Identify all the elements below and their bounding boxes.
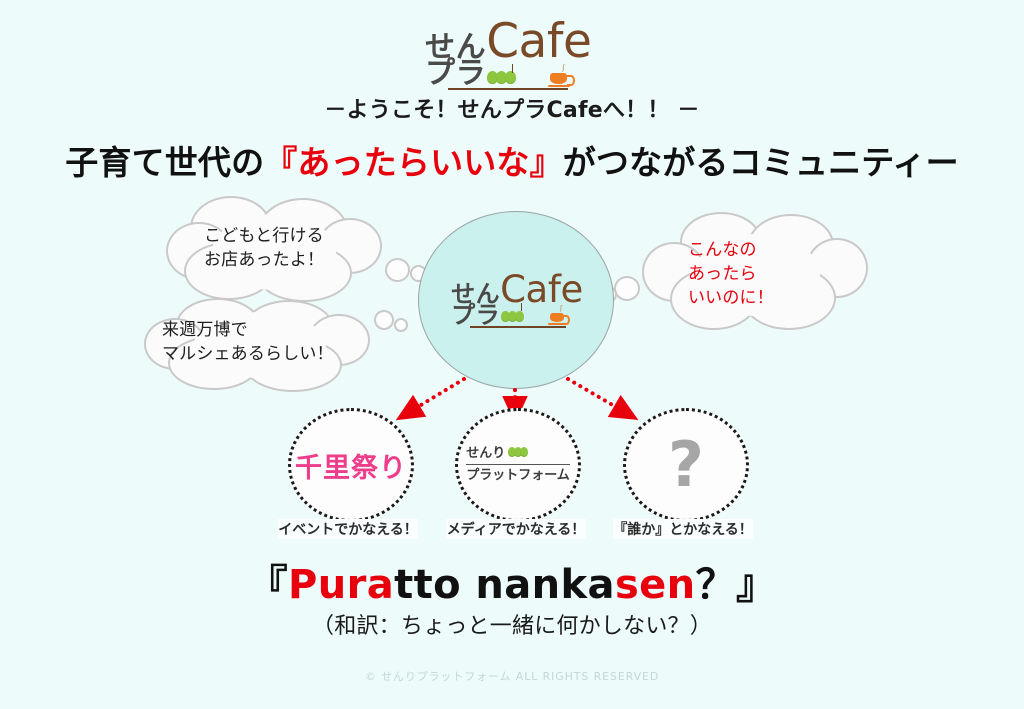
arrow-to-event <box>406 379 464 414</box>
logo-kana-line2: プラ <box>425 59 486 89</box>
tagline-red-2: sen <box>615 562 696 608</box>
platform-logo: せんり プラットフォーム <box>466 445 570 484</box>
arrow-to-someone <box>568 379 628 414</box>
bubble-text: 来週万博で マルシェあるらしい！ <box>162 318 334 366</box>
bubble-text: こんなの あったら いいのに！ <box>688 238 774 310</box>
caption-event: イベントでかなえる！ <box>278 519 418 539</box>
tagline: 『Puratto nankasen？』 <box>0 552 1024 610</box>
center-brand-circle: せん Cafe プラ ʃ <box>418 211 614 389</box>
headline-suffix: がつながるコミュニティー <box>563 143 959 182</box>
coffee-cup-icon: ʃ <box>550 73 570 87</box>
tree-icons <box>501 309 522 325</box>
thought-bubble-expo-marche: 来週万博で マルシェあるらしい！ <box>140 298 380 390</box>
tagline-translation: （和訳：ちょっと一緒に何かしない？） <box>0 608 1024 640</box>
brand-logo-center: せん Cafe プラ ʃ <box>451 271 583 327</box>
node-media[interactable]: せんり プラットフォーム <box>455 408 581 522</box>
coffee-cup-icon: ʃ <box>550 313 566 325</box>
tagline-bracket-close: 』 <box>736 562 776 608</box>
poster-canvas: せん Cafe プラ ʃ －ようこそ！せんプラCafeへ！！ － 子 <box>0 0 1024 709</box>
logo-cafe-text: Cafe <box>486 18 591 65</box>
thought-bubble-kids-shop: こどもと行ける お店あったよ！ <box>160 196 390 304</box>
welcome-line: －ようこそ！せんプラCafeへ！！ － <box>0 92 1024 124</box>
thought-bubble-wish: こんなの あったら いいのに！ <box>636 212 868 332</box>
tagline-black-1: tto nanka <box>394 562 615 608</box>
tagline-bracket-open: 『 <box>248 562 288 608</box>
page-title: 子育て世代の『あったらいいな』がつながるコミュニティー <box>0 136 1024 184</box>
tagline-question: ？ <box>696 562 736 608</box>
caption-someone: 『誰か』とかなえる！ <box>613 519 753 539</box>
platform-logo-line2: プラットフォーム <box>466 467 570 485</box>
event-logo-text: 千里祭り <box>295 446 407 485</box>
node-event[interactable]: 千里祭り <box>288 408 414 522</box>
bubble-text: こどもと行ける お店あったよ！ <box>204 224 324 272</box>
logo-kana-line2: プラ <box>451 303 500 327</box>
question-mark-icon: ? <box>668 434 704 496</box>
platform-logo-line1: せんり <box>466 445 505 463</box>
tree-icons <box>508 445 526 463</box>
caption-media: メディアでかなえる！ <box>446 519 586 539</box>
tagline-red-1: Pura <box>288 562 394 608</box>
node-someone[interactable]: ? <box>623 408 749 522</box>
tree-icons <box>487 71 514 87</box>
headline-prefix: 子育て世代の <box>65 143 264 182</box>
copyright: © せんりプラットフォーム ALL RIGHTS RESERVED <box>0 668 1024 684</box>
brand-logo-header: せん Cafe プラ ʃ <box>425 18 591 89</box>
headline-highlight: 『あったらいいな』 <box>264 143 563 182</box>
